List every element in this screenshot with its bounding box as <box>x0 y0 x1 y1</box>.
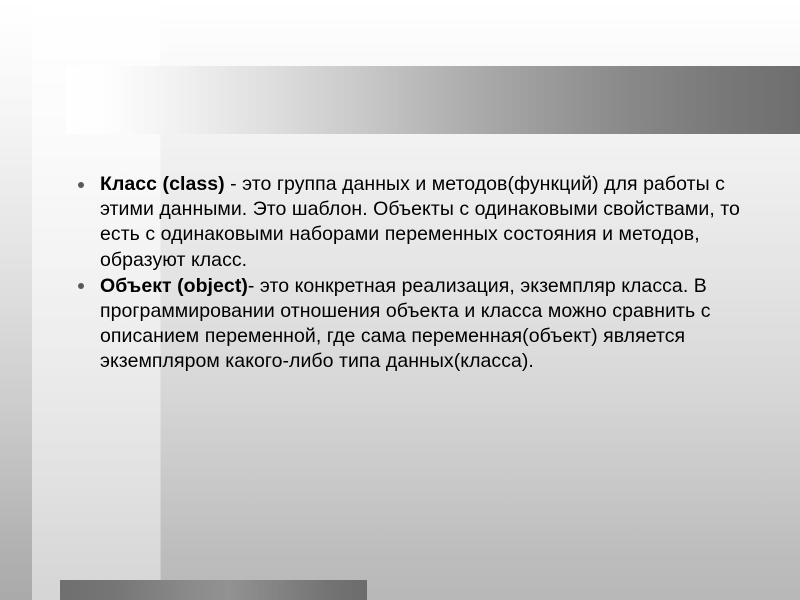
bullet-list: Класс (class) - это группа данных и мето… <box>66 172 756 375</box>
bullet-dot-icon <box>78 283 84 289</box>
bullet-term-label: Класс (class) <box>100 173 225 195</box>
bottom-gradient-bar <box>60 580 367 600</box>
bullet-term-label: Объект (object) <box>100 275 248 297</box>
slide-body-content: Класс (class) - это группа данных и мето… <box>66 172 756 375</box>
left-edge-decoration-band <box>0 0 32 600</box>
list-item: Объект (object)- это конкретная реализац… <box>66 274 756 375</box>
top-gradient-banner <box>66 66 800 134</box>
list-item: Класс (class) - это группа данных и мето… <box>66 172 756 273</box>
bullet-dot-icon <box>78 182 84 188</box>
presentation-slide: Класс (class) - это группа данных и мето… <box>0 0 800 600</box>
